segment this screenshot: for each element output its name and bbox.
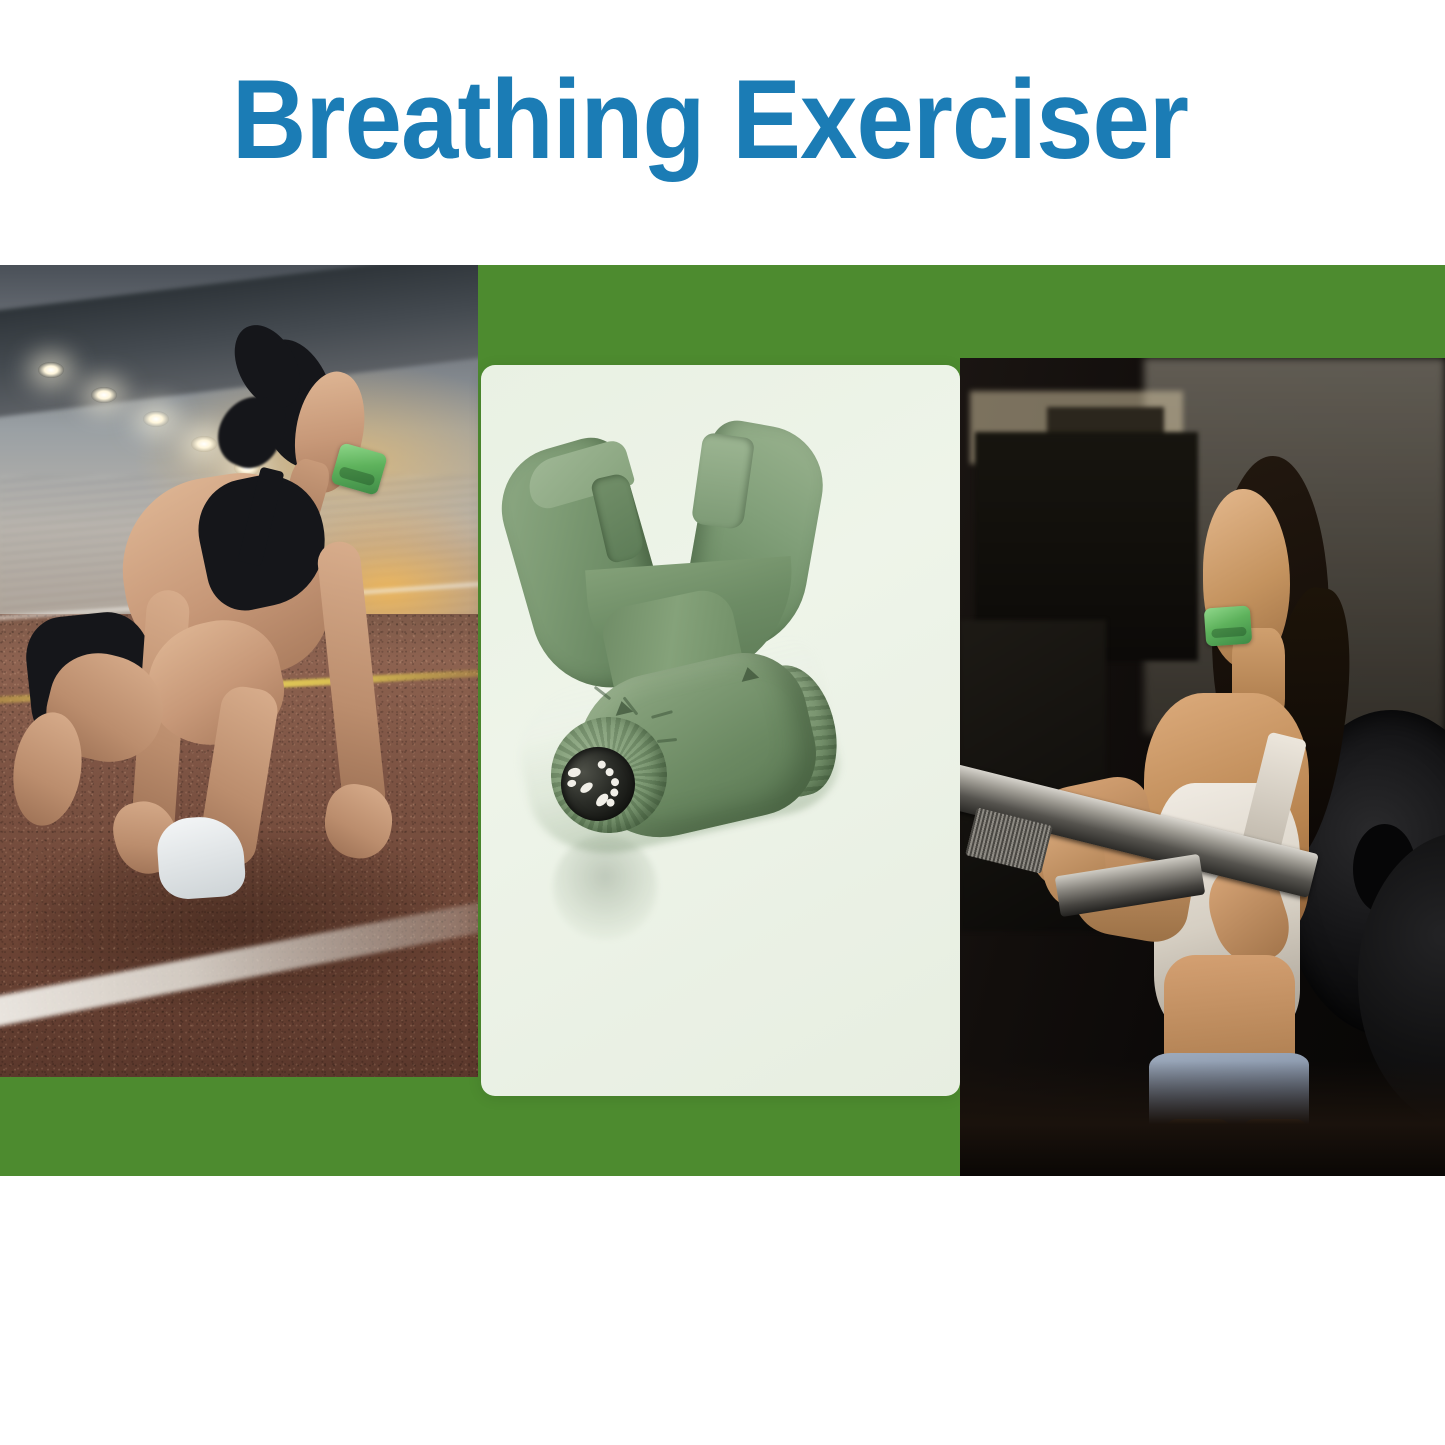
dial-dot <box>610 777 620 787</box>
dial-dot <box>578 780 594 795</box>
sprinter-figure <box>0 265 478 1077</box>
hand-right <box>319 779 398 863</box>
dial-dot <box>597 760 607 770</box>
breathing-device-in-mouth <box>330 442 388 496</box>
lifter-figure <box>960 358 1445 1176</box>
product-photo-card <box>481 365 960 1096</box>
dial-dot <box>567 767 582 779</box>
product-stage <box>481 365 960 1096</box>
breathing-device-in-mouth <box>1204 606 1253 647</box>
dial-dot <box>605 768 615 778</box>
hero-banner <box>0 265 1445 1176</box>
dial-dot <box>567 779 577 788</box>
sprinter-on-track-photo <box>0 265 478 1077</box>
title-band: Breathing Exerciser <box>0 0 1445 265</box>
gym-barbell-photo <box>960 358 1445 1176</box>
product-reflection-dial <box>553 835 657 939</box>
gym-floor <box>960 1061 1445 1176</box>
arm-right <box>316 540 388 819</box>
dial-dot <box>610 788 620 798</box>
page-title: Breathing Exerciser <box>57 64 1363 176</box>
dial-dot <box>605 798 615 808</box>
